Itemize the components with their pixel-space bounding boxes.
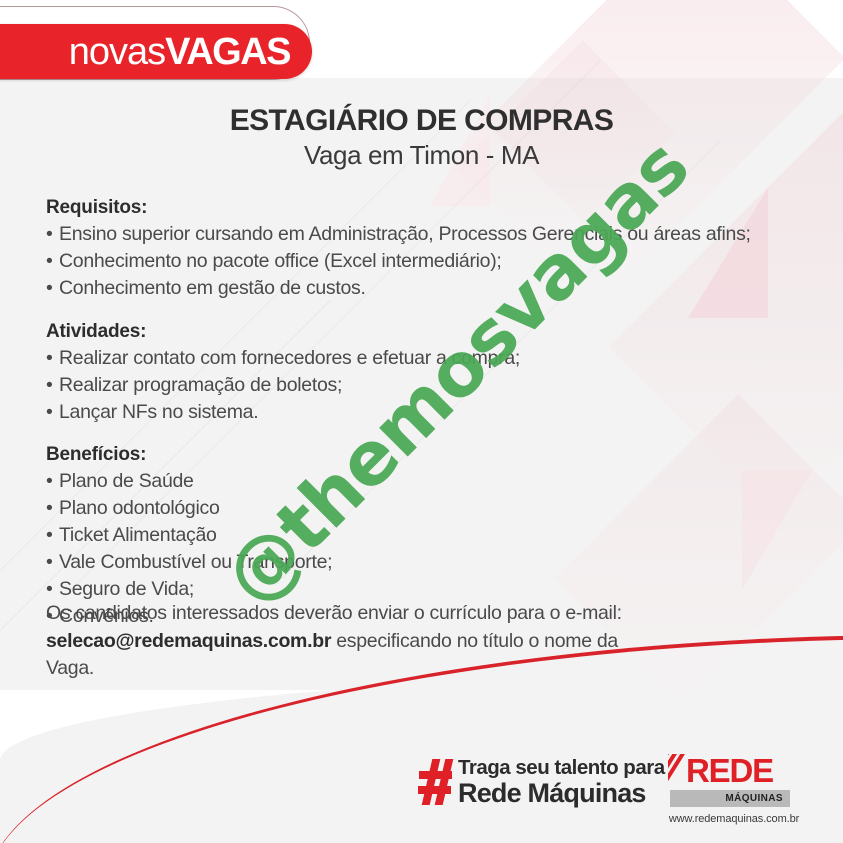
atividades-list: •Realizar contato com fornecedores e efe… <box>46 345 816 426</box>
section-atividades: Atividades: •Realizar contato com fornec… <box>46 321 816 426</box>
section-heading: Benefícios: <box>46 444 816 466</box>
list-item: •Lançar NFs no sistema. <box>46 399 816 426</box>
banner-logo-bold: VAGAS <box>165 31 290 73</box>
footer-tagline: Traga seu talento para Rede Máquinas <box>418 758 665 807</box>
list-item-text: Lançar NFs no sistema. <box>59 401 258 423</box>
novasvagas-banner: novasVAGAS <box>0 24 312 79</box>
tagline-lines: Traga seu talento para Rede Máquinas <box>458 758 665 807</box>
list-item: •Plano de Saúde <box>46 468 816 495</box>
bullet-icon: • <box>46 221 59 248</box>
rede-maquinas-logo: REDE MÁQUINAS www.redemaquinas.com.br <box>668 752 808 825</box>
section-requisitos: Requisitos: •Ensino superior cursando em… <box>46 197 816 302</box>
bullet-icon: • <box>46 248 59 275</box>
title-block: ESTAGIÁRIO DE COMPRAS Vaga em Timon - MA <box>0 105 843 171</box>
instructions-line-1: Os candidatos interessados deverão envia… <box>46 602 622 624</box>
tagline-line-2: Rede Máquinas <box>458 780 665 807</box>
tagline-line-1: Traga seu talento para <box>458 758 665 779</box>
bullet-icon: • <box>46 495 59 522</box>
list-item-text: Conhecimento no pacote office (Excel int… <box>59 250 502 272</box>
bullet-icon: • <box>46 576 59 603</box>
instructions-line-2: especificando no título o nome da <box>331 630 618 652</box>
poster-footer: Traga seu talento para Rede Máquinas RED… <box>0 752 843 843</box>
list-item: •Plano odontológico <box>46 495 816 522</box>
bullet-icon: • <box>46 399 59 426</box>
bullet-icon: • <box>46 275 59 302</box>
list-item: •Realizar contato com fornecedores e efe… <box>46 345 816 372</box>
bullet-icon: • <box>46 522 59 549</box>
list-item: •Conhecimento em gestão de custos. <box>46 275 816 302</box>
list-item-text: Conhecimento em gestão de custos. <box>59 277 366 299</box>
logo-word-rede: REDE <box>686 754 773 787</box>
speed-lines-icon <box>668 754 694 786</box>
banner-logo-thin: novas <box>69 31 165 73</box>
contact-email[interactable]: selecao@redemaquinas.com.br <box>46 630 331 652</box>
list-item: •Vale Combustível ou Transporte; <box>46 549 816 576</box>
list-item-text: Seguro de Vida; <box>59 578 194 600</box>
list-item-text: Ensino superior cursando em Administraçã… <box>59 223 751 245</box>
section-heading: Requisitos: <box>46 197 816 219</box>
list-item-text: Ticket Alimentação <box>59 524 217 546</box>
instructions-line-3: Vaga. <box>46 657 94 679</box>
bullet-icon: • <box>46 468 59 495</box>
list-item-text: Realizar contato com fornecedores e efet… <box>59 347 520 369</box>
bullet-icon: • <box>46 372 59 399</box>
list-item: •Conhecimento no pacote office (Excel in… <box>46 248 816 275</box>
list-item-text: Realizar programação de boletos; <box>59 374 342 396</box>
list-item-text: Plano odontológico <box>59 497 219 519</box>
bullet-icon: • <box>46 345 59 372</box>
section-heading: Atividades: <box>46 321 816 343</box>
job-posting-poster: novasVAGAS ESTAGIÁRIO DE COMPRAS Vaga em… <box>0 0 843 843</box>
list-item-text: Vale Combustível ou Transporte; <box>59 551 332 573</box>
list-item: •Ticket Alimentação <box>46 522 816 549</box>
logo-wordmark: REDE <box>668 752 808 788</box>
job-title: ESTAGIÁRIO DE COMPRAS <box>0 105 843 137</box>
posting-content: Requisitos: •Ensino superior cursando em… <box>46 197 816 630</box>
hashtag-icon <box>418 759 454 805</box>
banner-logo-text: novasVAGAS <box>69 33 312 71</box>
logo-subtitle: MÁQUINAS <box>725 793 790 804</box>
bullet-icon: • <box>46 549 59 576</box>
company-website[interactable]: www.redemaquinas.com.br <box>668 813 800 825</box>
list-item: •Ensino superior cursando em Administraç… <box>46 221 816 248</box>
job-location: Vaga em Timon - MA <box>0 141 843 170</box>
list-item: •Realizar programação de boletos; <box>46 372 816 399</box>
list-item: •Seguro de Vida; <box>46 576 816 603</box>
logo-subtitle-bar: MÁQUINAS <box>670 790 790 807</box>
application-instructions: Os candidatos interessados deverão envia… <box>46 600 746 683</box>
requisitos-list: •Ensino superior cursando em Administraç… <box>46 221 816 302</box>
list-item-text: Plano de Saúde <box>59 470 194 492</box>
